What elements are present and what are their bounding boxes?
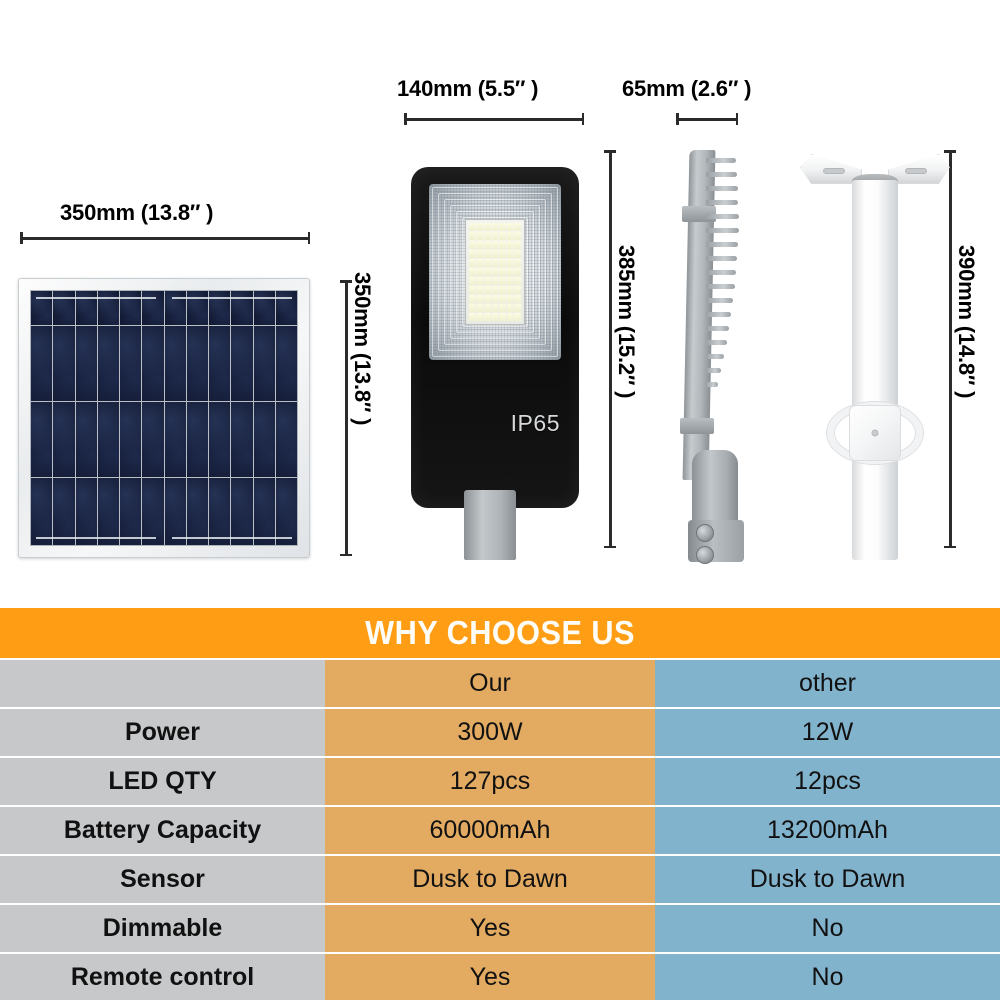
solar-panel-width-label: 350mm (13.8″ ) (60, 200, 213, 226)
solar-panel-height-label: 350mm (13.8″ ) (349, 272, 375, 425)
bolt-icon (696, 546, 714, 564)
comparison-table: WHY CHOOSE US Our other Power 300W 12W L… (0, 608, 1000, 1000)
lamp-mounting-stem (464, 490, 516, 560)
lamp-heatsink-fins (706, 158, 740, 448)
lamp-side-clamp-bottom (680, 418, 714, 434)
lamp-lens-reflector (429, 184, 561, 360)
table-row: Battery Capacity 60000mAh 13200mAh (0, 807, 1000, 854)
solar-panel-image (18, 278, 310, 558)
street-lamp-side-view (676, 150, 762, 558)
mounting-bracket-view (800, 148, 950, 560)
table-header-row: Our other (0, 660, 1000, 707)
bracket-height-label: 390mm (14.8″ ) (953, 245, 979, 398)
ip-rating-text: IP65 (511, 410, 560, 437)
row-our-value: Yes (325, 954, 655, 1000)
table-row: LED QTY 127pcs 12pcs (0, 758, 1000, 805)
product-infographic: 350mm (13.8″ ) 350mm (13.8″ ) (0, 0, 1000, 1000)
table-row: Sensor Dusk to Dawn Dusk to Dawn (0, 856, 1000, 903)
column-header-other: other (655, 660, 1000, 707)
bracket-adjustment-collar (827, 402, 923, 464)
collar-disc (849, 405, 901, 461)
column-header-our: Our (325, 660, 655, 707)
table-row: Remote control Yes No (0, 954, 1000, 1000)
row-our-value: 300W (325, 709, 655, 756)
row-other-value: No (655, 954, 1000, 1000)
table-row: Power 300W 12W (0, 709, 1000, 756)
column-header-blank (0, 660, 325, 707)
row-label: Battery Capacity (0, 807, 325, 854)
bracket-pole (852, 180, 898, 560)
row-our-value: Dusk to Dawn (325, 856, 655, 903)
product-dimension-diagram: 350mm (13.8″ ) 350mm (13.8″ ) (0, 0, 1000, 608)
lamp-width-dimension-line (404, 113, 584, 125)
bolt-icon (696, 524, 714, 542)
lamp-width-label: 140mm (5.5″ ) (397, 76, 538, 102)
table-header-banner: WHY CHOOSE US (0, 608, 1000, 658)
lamp-side-base (688, 520, 744, 562)
solar-cell-grid (30, 290, 298, 546)
page-title: WHY CHOOSE US (365, 614, 635, 652)
row-label: Dimmable (0, 905, 325, 952)
row-label: Remote control (0, 954, 325, 1000)
solar-panel-width-dimension-line (20, 232, 310, 244)
lamp-depth-label: 65mm (2.6″ ) (622, 76, 751, 102)
row-our-value: Yes (325, 905, 655, 952)
row-other-value: 12pcs (655, 758, 1000, 805)
row-our-value: 127pcs (325, 758, 655, 805)
collar-screw-icon (872, 430, 879, 437)
street-lamp-front-view: IP65 (411, 167, 579, 508)
row-label: Power (0, 709, 325, 756)
row-other-value: No (655, 905, 1000, 952)
row-label: Sensor (0, 856, 325, 903)
row-other-value: Dusk to Dawn (655, 856, 1000, 903)
row-other-value: 12W (655, 709, 1000, 756)
led-chip-array (465, 219, 525, 325)
row-label: LED QTY (0, 758, 325, 805)
lamp-depth-dimension-line (676, 113, 738, 125)
row-other-value: 13200mAh (655, 807, 1000, 854)
lamp-height-label: 385mm (15.2″ ) (613, 245, 639, 398)
table-row: Dimmable Yes No (0, 905, 1000, 952)
row-our-value: 60000mAh (325, 807, 655, 854)
